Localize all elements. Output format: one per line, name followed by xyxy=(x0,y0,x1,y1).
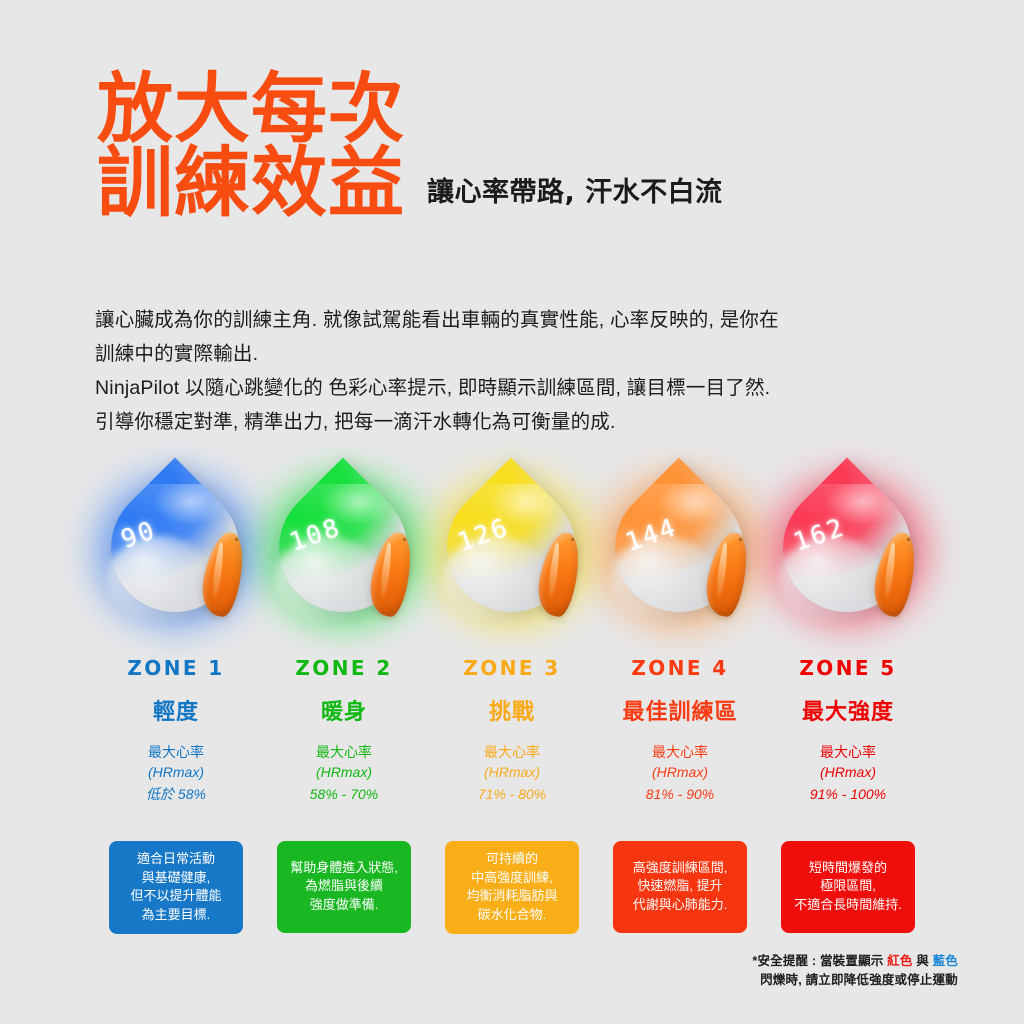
body-copy: 讓心臟成為你的訓練主角. 就像試駕能看出車輛的真實性能, 心率反映的, 是你在 … xyxy=(95,303,957,439)
body-paragraph-4: 引導你穩定對準, 精準出力, 把每一滴汗水轉化為可衡量的成. xyxy=(95,405,957,439)
zone-description-line: 適合日常活動 xyxy=(130,850,221,869)
zone-label-row: ZONE 1輕度最大心率(HRmax)低於 58%ZONE 2暖身最大心率(HR… xyxy=(92,656,932,804)
headline-block: 放大每次 訓練效益 讓心率帶路, 汗水不白流 xyxy=(97,72,937,219)
zone-meta-2: 最大心率(HRmax)58% - 70% xyxy=(264,742,424,804)
clip-sensor-dot-5 xyxy=(907,538,910,541)
zone-hrmax-range-2: 58% - 70% xyxy=(264,784,424,804)
safety-note: *安全提醒 : 當裝置顯示 紅色 與 藍色 閃爍時, 請立即降低強度或停止運動 xyxy=(752,952,958,990)
heart-device-3: 126 xyxy=(428,472,596,647)
zone-description-line: 為燃脂與後續 xyxy=(290,877,398,896)
heart-device-1: 90 xyxy=(92,472,260,647)
safety-note-red-word: 紅色 xyxy=(887,954,912,968)
zone-hrmax-label-1: 最大心率 xyxy=(96,742,256,762)
zone-description-line: 高強度訓練區間, xyxy=(633,859,728,878)
zone-description-line: 幫助身體進入狀態, xyxy=(290,859,398,878)
zone-description-cell-1: 適合日常活動與基礎健康,但不以提升體能為主要目標. xyxy=(92,841,260,934)
body-paragraph-2: 訓練中的實際輸出. xyxy=(95,337,957,371)
headline-line-1: 放大每次 xyxy=(97,72,937,146)
zone-title-5: ZONE 5 xyxy=(768,656,928,680)
zone-description-row: 適合日常活動與基礎健康,但不以提升體能為主要目標.幫助身體進入狀態,為燃脂與後續… xyxy=(92,841,932,934)
zone-description-box-1: 適合日常活動與基礎健康,但不以提升體能為主要目標. xyxy=(109,841,243,934)
zone-description-line: 碳水化合物. xyxy=(466,906,557,925)
zone-meta-3: 最大心率(HRmax)71% - 80% xyxy=(432,742,592,804)
heart-device-5: 162 xyxy=(764,472,932,647)
safety-note-blue-word: 藍色 xyxy=(933,954,958,968)
zone-title-2: ZONE 2 xyxy=(264,656,424,680)
zone-name-2: 暖身 xyxy=(264,694,424,726)
zone-hrmax-range-1: 低於 58% xyxy=(96,784,256,804)
zone-hrmax-range-4: 81% - 90% xyxy=(600,784,760,804)
zone-description-cell-4: 高強度訓練區間,快速燃脂, 提升代謝與心肺能力. xyxy=(596,841,764,933)
zone-description-line: 為主要目標. xyxy=(130,906,221,925)
zone-column-3: ZONE 3挑戰最大心率(HRmax)71% - 80% xyxy=(428,656,596,804)
headline-line-2: 訓練效益 xyxy=(97,146,405,220)
zone-column-5: ZONE 5最大強度最大心率(HRmax)91% - 100% xyxy=(764,656,932,804)
zone-column-1: ZONE 1輕度最大心率(HRmax)低於 58% xyxy=(92,656,260,804)
zone-title-4: ZONE 4 xyxy=(600,656,760,680)
zone-description-box-4: 高強度訓練區間,快速燃脂, 提升代謝與心肺能力. xyxy=(613,841,747,933)
clip-sensor-dot-3 xyxy=(571,538,574,541)
zone-title-3: ZONE 3 xyxy=(432,656,592,680)
clip-sensor-dot-4 xyxy=(739,538,742,541)
heart-device-row: 90108126144162 xyxy=(92,472,932,647)
zone-description-line: 極限區間, xyxy=(794,877,902,896)
safety-note-prefix: *安全提醒 : 當裝置顯示 xyxy=(752,954,887,968)
zone-description-cell-3: 可持續的中高強度訓練,均衡消耗脂肪與碳水化合物. xyxy=(428,841,596,934)
zone-hrmax-unit-2: (HRmax) xyxy=(264,762,424,782)
zone-column-2: ZONE 2暖身最大心率(HRmax)58% - 70% xyxy=(260,656,428,804)
zone-description-cell-5: 短時間爆發的極限區間,不適合長時間維持. xyxy=(764,841,932,933)
zone-title-1: ZONE 1 xyxy=(96,656,256,680)
zone-name-5: 最大強度 xyxy=(768,694,928,726)
zone-description-box-3: 可持續的中高強度訓練,均衡消耗脂肪與碳水化合物. xyxy=(445,841,579,934)
subheadline: 讓心率帶路, 汗水不白流 xyxy=(427,170,723,219)
zone-description-line: 中高強度訓練, xyxy=(466,869,557,888)
zone-description-line: 快速燃脂, 提升 xyxy=(633,877,728,896)
body-paragraph-1: 讓心臟成為你的訓練主角. 就像試駕能看出車輛的真實性能, 心率反映的, 是你在 xyxy=(95,303,957,337)
headline-line-2-row: 訓練效益 讓心率帶路, 汗水不白流 xyxy=(97,146,937,220)
zone-description-line: 不適合長時間維持. xyxy=(794,896,902,915)
infographic-page: 放大每次 訓練效益 讓心率帶路, 汗水不白流 讓心臟成為你的訓練主角. 就像試駕… xyxy=(0,0,1024,1024)
clip-sensor-dot-2 xyxy=(403,538,406,541)
zone-meta-4: 最大心率(HRmax)81% - 90% xyxy=(600,742,760,804)
heart-device-2: 108 xyxy=(260,472,428,647)
zone-description-line: 代謝與心肺能力. xyxy=(633,896,728,915)
zone-meta-1: 最大心率(HRmax)低於 58% xyxy=(96,742,256,804)
clip-sensor-dot-1 xyxy=(235,538,238,541)
zone-hrmax-unit-4: (HRmax) xyxy=(600,762,760,782)
zone-hrmax-label-4: 最大心率 xyxy=(600,742,760,762)
zone-description-line: 短時間爆發的 xyxy=(794,859,902,878)
zone-hrmax-unit-1: (HRmax) xyxy=(96,762,256,782)
zone-name-4: 最佳訓練區 xyxy=(600,694,760,726)
heart-device-4: 144 xyxy=(596,472,764,647)
zone-hrmax-label-5: 最大心率 xyxy=(768,742,928,762)
body-paragraph-3: NinjaPilot 以隨心跳變化的 色彩心率提示, 即時顯示訓練區間, 讓目標… xyxy=(95,371,957,405)
safety-note-line-1: *安全提醒 : 當裝置顯示 紅色 與 藍色 xyxy=(752,952,958,971)
zone-name-1: 輕度 xyxy=(96,694,256,726)
zone-description-line: 但不以提升體能 xyxy=(130,887,221,906)
zone-description-cell-2: 幫助身體進入狀態,為燃脂與後續強度做準備. xyxy=(260,841,428,933)
zone-description-box-2: 幫助身體進入狀態,為燃脂與後續強度做準備. xyxy=(277,841,411,933)
zone-hrmax-range-5: 91% - 100% xyxy=(768,784,928,804)
zone-hrmax-label-3: 最大心率 xyxy=(432,742,592,762)
zone-hrmax-label-2: 最大心率 xyxy=(264,742,424,762)
zone-meta-5: 最大心率(HRmax)91% - 100% xyxy=(768,742,928,804)
zone-name-3: 挑戰 xyxy=(432,694,592,726)
zone-description-line: 均衡消耗脂肪與 xyxy=(466,887,557,906)
zone-hrmax-range-3: 71% - 80% xyxy=(432,784,592,804)
zone-description-line: 可持續的 xyxy=(466,850,557,869)
zone-description-line: 與基礎健康, xyxy=(130,869,221,888)
zone-hrmax-unit-5: (HRmax) xyxy=(768,762,928,782)
safety-note-line-2: 閃爍時, 請立即降低強度或停止運動 xyxy=(752,971,958,990)
zone-description-line: 強度做準備. xyxy=(290,896,398,915)
zone-description-box-5: 短時間爆發的極限區間,不適合長時間維持. xyxy=(781,841,915,933)
safety-note-conjunction: 與 xyxy=(913,954,933,968)
zone-column-4: ZONE 4最佳訓練區最大心率(HRmax)81% - 90% xyxy=(596,656,764,804)
zone-hrmax-unit-3: (HRmax) xyxy=(432,762,592,782)
